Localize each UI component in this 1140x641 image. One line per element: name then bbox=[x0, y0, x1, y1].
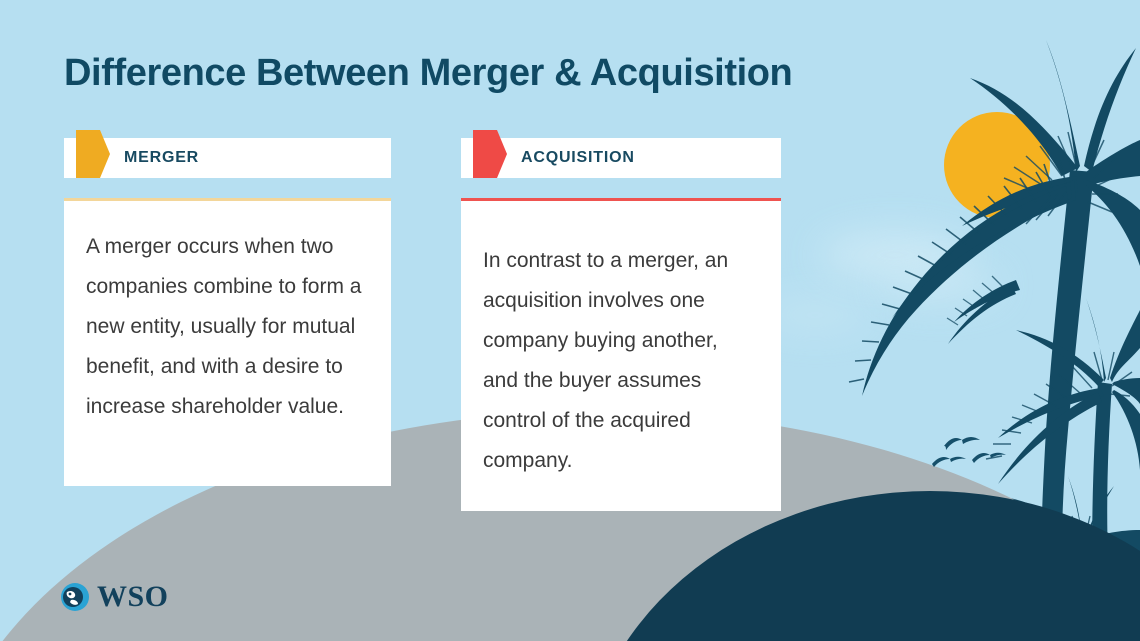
merger-tab-icon bbox=[76, 130, 110, 178]
acquisition-tab-icon bbox=[473, 130, 507, 178]
sun-icon bbox=[944, 112, 1050, 218]
cloud-shape bbox=[880, 268, 1000, 302]
card-header-label-merger: MERGER bbox=[124, 149, 199, 167]
card-header-label-acquisition: ACQUISITION bbox=[521, 149, 635, 167]
card-header-acquisition: ACQUISITION bbox=[461, 138, 781, 178]
cloud-shape bbox=[820, 232, 970, 278]
globe-icon bbox=[60, 582, 90, 612]
infographic-canvas: Difference Between Merger & Acquisition … bbox=[0, 0, 1140, 641]
birds-icon bbox=[930, 424, 1010, 484]
hill-navy-shape bbox=[580, 491, 1140, 641]
wso-logo-text: WSO bbox=[97, 580, 169, 614]
page-title: Difference Between Merger & Acquisition bbox=[64, 52, 792, 95]
card-merger: MERGER A merger occurs when two companie… bbox=[64, 138, 391, 486]
card-body-text-acquisition: In contrast to a merger, an acquisition … bbox=[483, 241, 757, 481]
card-body-acquisition: In contrast to a merger, an acquisition … bbox=[461, 198, 781, 511]
card-body-merger: A merger occurs when two companies combi… bbox=[64, 198, 391, 486]
card-body-text-merger: A merger occurs when two companies combi… bbox=[86, 227, 367, 427]
wso-logo[interactable]: WSO bbox=[60, 580, 169, 614]
card-acquisition: ACQUISITION In contrast to a merger, an … bbox=[461, 138, 781, 511]
card-header-merger: MERGER bbox=[64, 138, 391, 178]
